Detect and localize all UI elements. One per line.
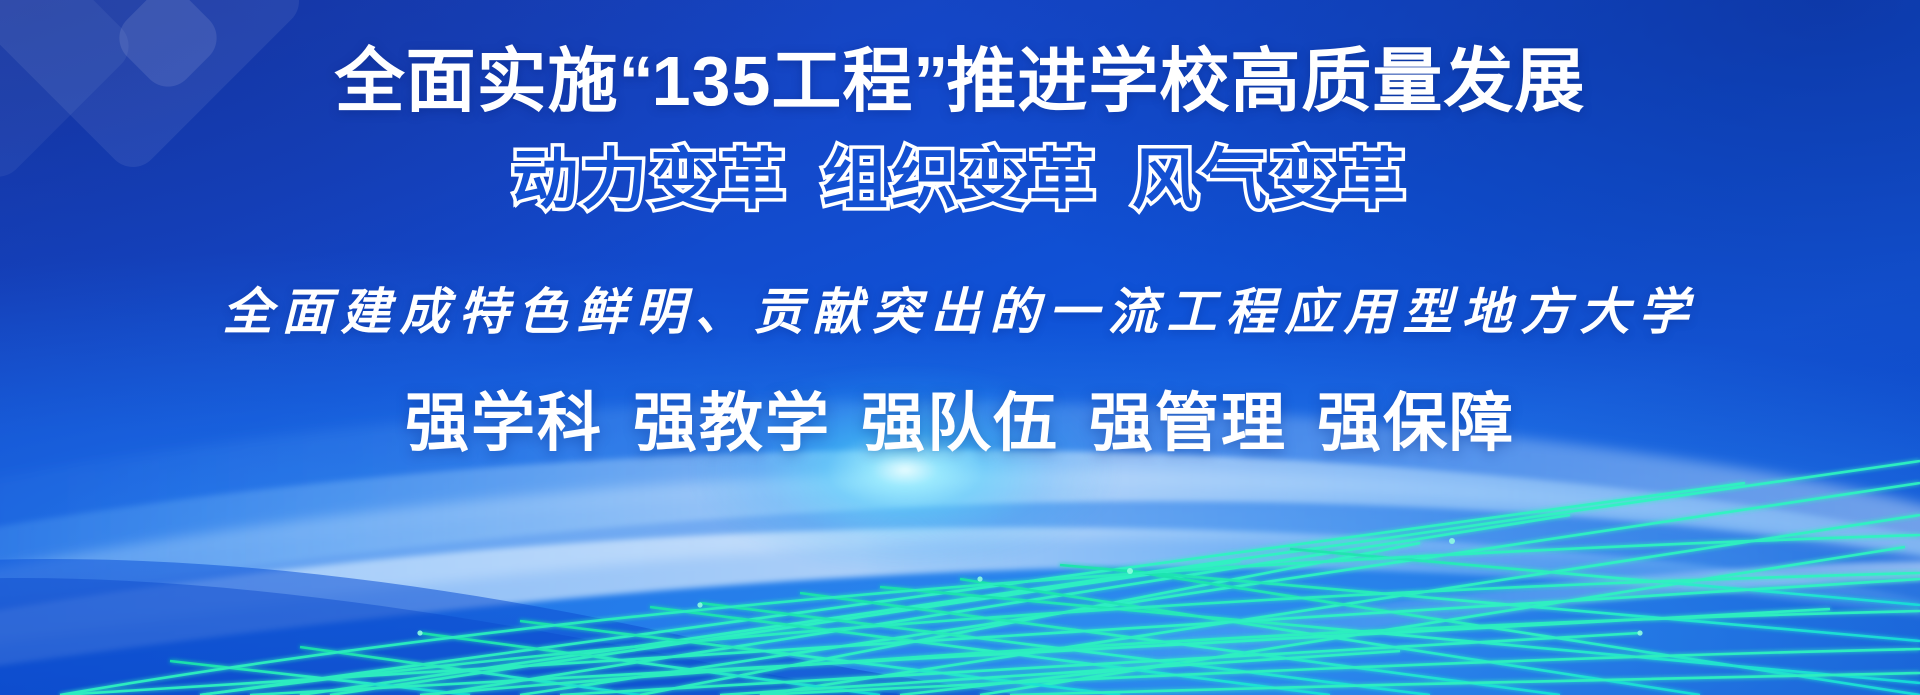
- banner-text-block: 全面实施“135工程”推进学校高质量发展 动力变革组织变革风气变革 全面建成特色…: [0, 0, 1920, 695]
- quote-close: ”: [913, 42, 946, 120]
- reform-slogans: 动力变革组织变革风气变革: [0, 142, 1920, 218]
- pillar-item-5: 强保障: [1317, 372, 1515, 464]
- pillar-item-2: 强教学: [633, 372, 831, 464]
- headline: 全面实施“135工程”推进学校高质量发展: [0, 46, 1920, 116]
- reform-item-3: 风气变革: [1132, 142, 1408, 218]
- headline-prefix: 全面实施: [335, 42, 619, 120]
- reform-item-1: 动力变革: [512, 142, 788, 218]
- vision-statement: 全面建成特色鲜明、贡献突出的一流工程应用型地方大学: [0, 272, 1920, 344]
- headline-suffix: 推进学校高质量发展: [946, 42, 1585, 120]
- reform-item-2: 组织变革: [822, 142, 1098, 218]
- pillar-item-1: 强学科: [405, 372, 603, 464]
- headline-project: 135工程: [652, 42, 914, 120]
- pillar-item-3: 强队伍: [861, 372, 1059, 464]
- quote-open: “: [619, 42, 652, 120]
- pillar-slogans: 强学科强教学强队伍强管理强保障: [0, 372, 1920, 464]
- campaign-banner: 全面实施“135工程”推进学校高质量发展 动力变革组织变革风气变革 全面建成特色…: [0, 0, 1920, 695]
- pillar-item-4: 强管理: [1089, 372, 1287, 464]
